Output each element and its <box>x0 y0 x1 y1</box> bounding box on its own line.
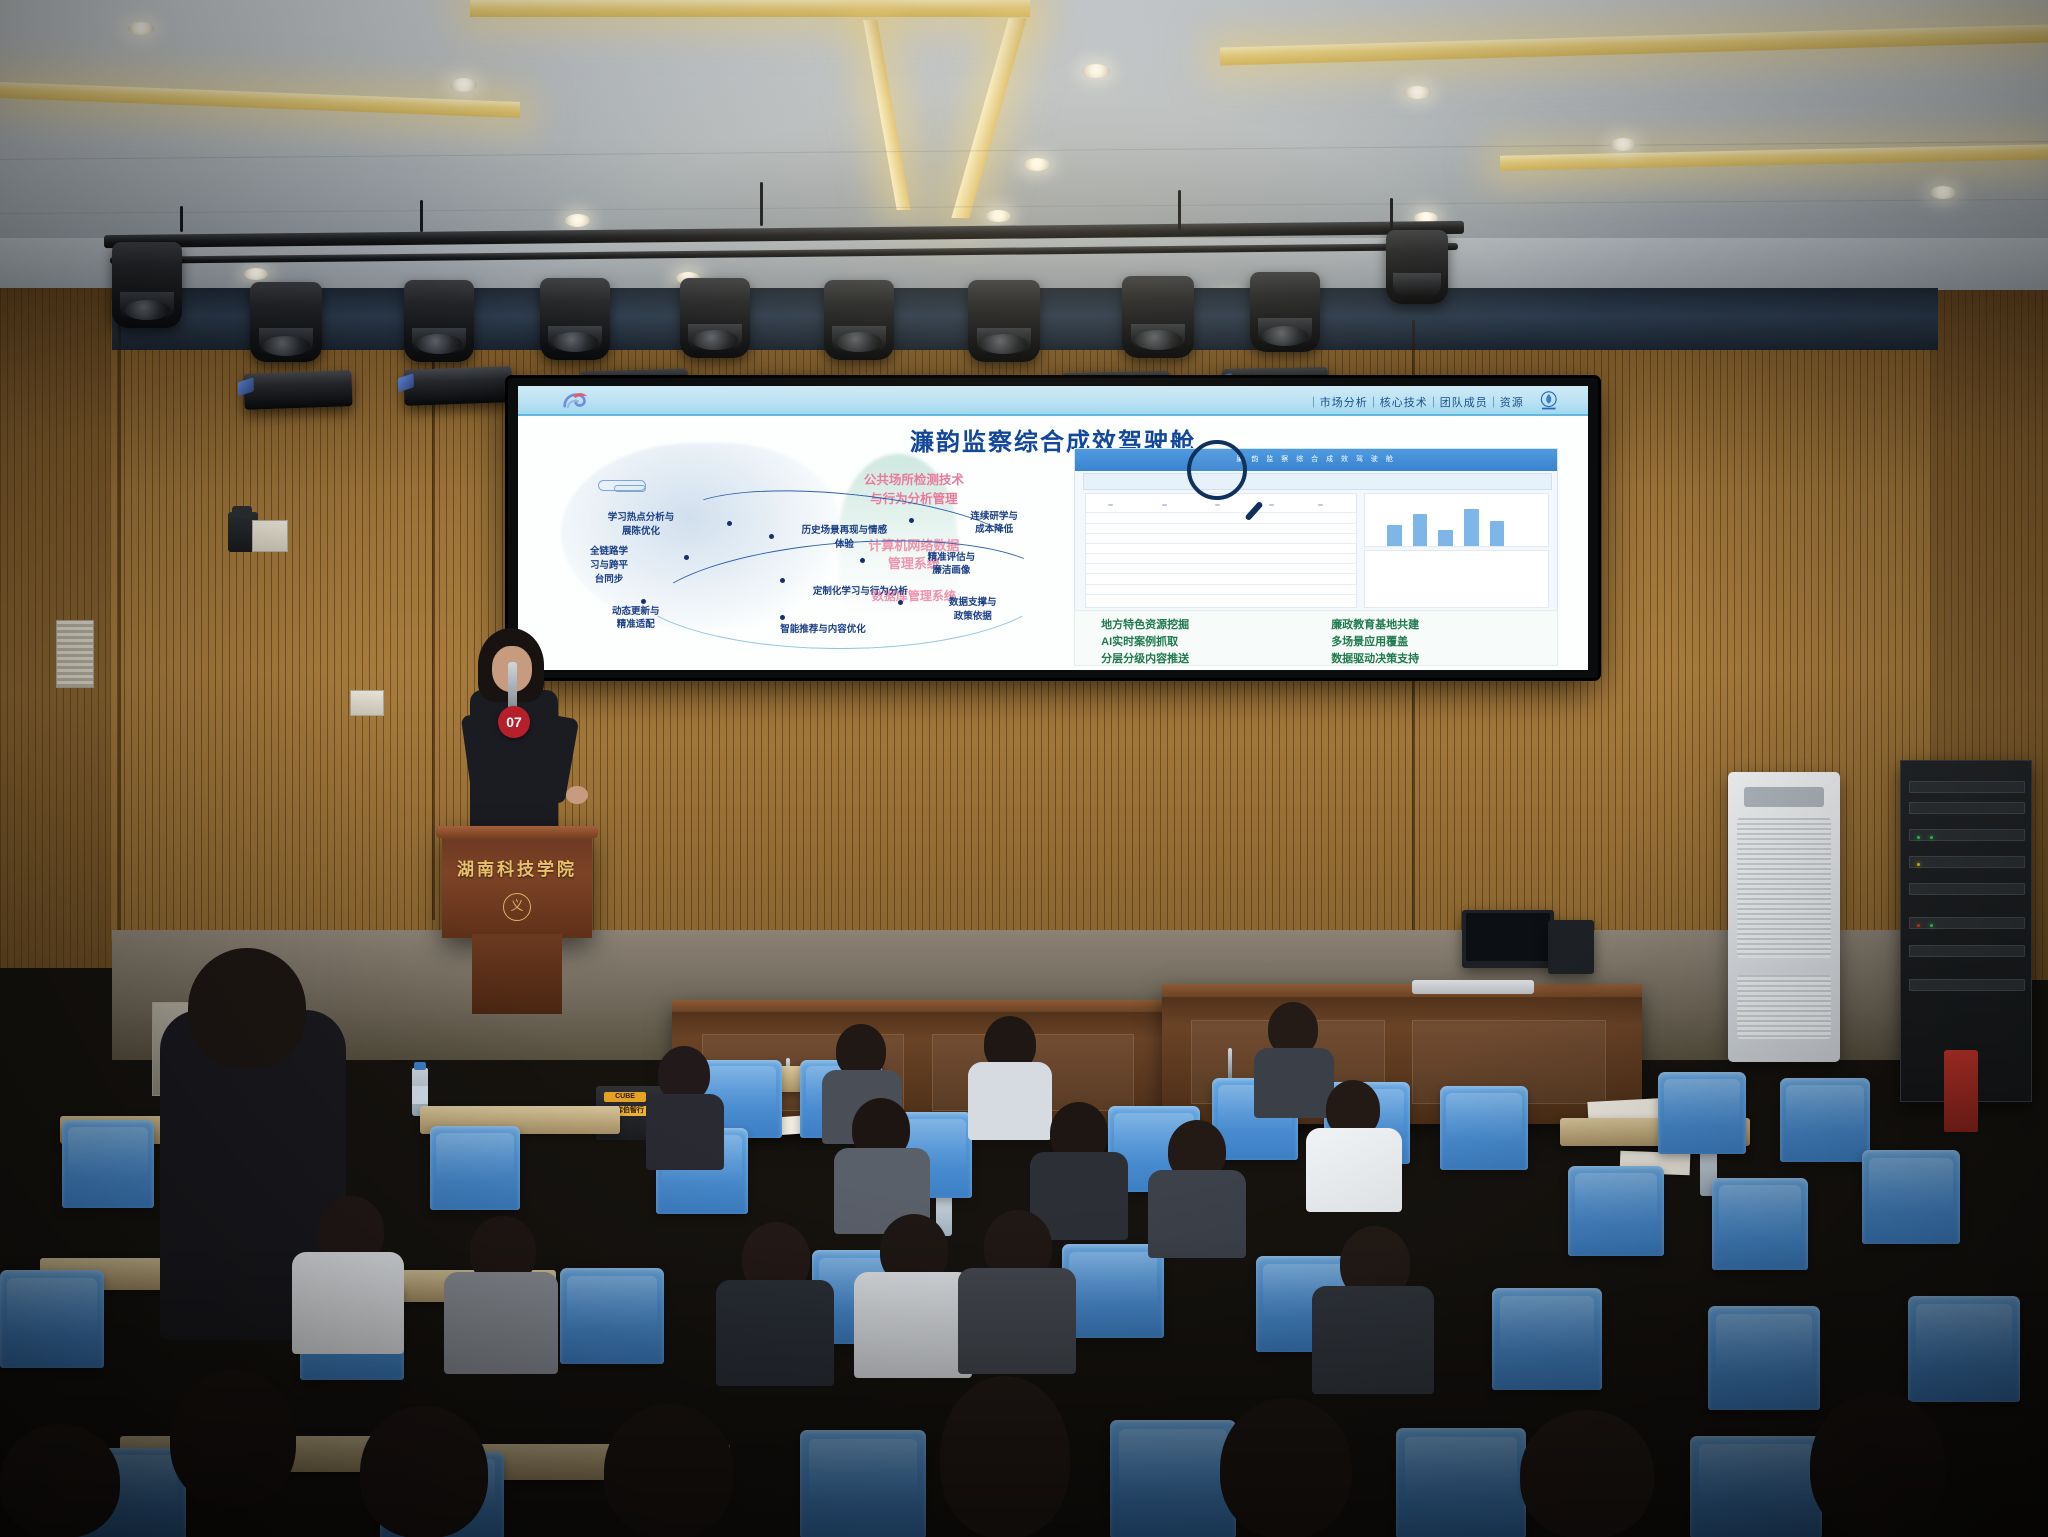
podium-top-surface <box>436 826 598 838</box>
ceiling-downlight <box>244 268 268 280</box>
audience-person-head <box>188 948 306 1068</box>
stage-wash-light <box>243 370 352 410</box>
rack-unit <box>1909 829 2025 841</box>
magnifier-icon <box>1187 440 1247 500</box>
ceiling-downlight <box>450 78 477 92</box>
highlight-right-0: 廉政教育基地共建 <box>1331 616 1419 632</box>
ac-grille <box>1737 818 1831 957</box>
slide-header-rule <box>518 414 1588 416</box>
mindmap-label-7: 智能推荐与内容优化 <box>705 623 940 637</box>
audience-person-body <box>854 1272 972 1378</box>
barn-door <box>238 378 254 398</box>
chart-bar <box>1387 525 1402 546</box>
bottle-cap <box>414 1062 426 1070</box>
audience-person-body <box>1254 1048 1334 1118</box>
stage-light-lens <box>836 332 882 352</box>
audience-person-body <box>292 1252 404 1354</box>
table-cell <box>1108 504 1113 506</box>
audience-seat[interactable] <box>0 1270 104 1368</box>
highlight-left-0: 地方特色资源挖掘 <box>1101 616 1189 632</box>
rack-unit <box>1909 945 2025 957</box>
mindmap-label-6: 动态更新与 精准适配 <box>561 605 711 633</box>
ceiling-downlight <box>1930 186 1956 199</box>
wall-seam <box>118 300 121 940</box>
fire-extinguisher <box>1944 1050 1978 1132</box>
mindmap-node-dot <box>909 518 914 523</box>
highlight-left-1: AI实时案例抓取 <box>1101 633 1178 649</box>
mindmap-node-dot <box>780 578 785 583</box>
ceiling-downlight <box>128 22 154 35</box>
audience-seat[interactable] <box>1658 1072 1746 1154</box>
audience-seat[interactable] <box>1396 1428 1526 1537</box>
slide-nav-text: ｜市场分析｜核心技术｜团队成员｜资源 <box>1308 394 1524 410</box>
chart-bar <box>1490 521 1505 546</box>
highlight-left-2: 分层分级内容推送 <box>1101 650 1189 666</box>
highlight-right-1: 多场景应用覆盖 <box>1331 633 1408 649</box>
table-row <box>1086 573 1356 574</box>
stage-light-lens <box>1134 330 1182 350</box>
barn-door <box>398 374 414 394</box>
stage-light-lens <box>552 332 598 352</box>
audience-seat[interactable] <box>1712 1178 1808 1270</box>
institution-logo <box>1522 389 1576 412</box>
audience-person-body <box>1312 1286 1434 1394</box>
control-monitor[interactable] <box>1462 910 1554 968</box>
audience-person-head <box>170 1370 296 1506</box>
table-row <box>1086 584 1356 585</box>
podium-institution-name: 湖南科技学院 <box>442 855 592 880</box>
chart-bar <box>1413 514 1428 546</box>
audience-person-head <box>604 1404 734 1537</box>
table-row <box>1086 512 1356 513</box>
mindmap-node-dot <box>684 555 689 560</box>
rack-status-led <box>1930 836 1933 839</box>
stage-light-lens <box>692 330 738 350</box>
audience-person-head <box>1810 1392 1946 1537</box>
rack-unit <box>1909 979 2025 991</box>
table-row <box>1086 533 1356 534</box>
dashboard-filter-bar[interactable] <box>1083 473 1552 490</box>
wall-ac-vent <box>56 620 94 688</box>
audience-person-head <box>1220 1398 1352 1537</box>
audience-person-body <box>1148 1170 1246 1258</box>
truss-cable <box>760 182 763 226</box>
ceiling-downlight <box>1404 86 1431 99</box>
audience-seat[interactable] <box>1690 1436 1822 1537</box>
rack-unit <box>1909 883 2025 895</box>
wall-panel-box <box>252 520 288 552</box>
stage-par-light <box>1386 230 1448 304</box>
chart-bar <box>1464 509 1479 546</box>
dashboard-stat-card <box>1364 550 1549 609</box>
audience-seat[interactable] <box>800 1430 926 1537</box>
control-pc-tower <box>1548 920 1594 974</box>
audience-person-body <box>646 1094 724 1170</box>
dashboard-chart-card <box>1364 493 1549 547</box>
podium-base <box>472 934 562 1014</box>
ac-control-panel[interactable] <box>1744 787 1825 807</box>
wall-plaque <box>350 690 384 716</box>
audience-seat[interactable] <box>1492 1288 1602 1390</box>
audience-seat[interactable] <box>1908 1296 2020 1402</box>
audience-seat[interactable] <box>1062 1244 1164 1338</box>
audience-seat[interactable] <box>1568 1166 1664 1256</box>
ac-grille <box>1737 975 1831 1039</box>
audience-seat[interactable] <box>62 1120 154 1208</box>
table-row <box>1086 594 1356 595</box>
presentation-screen[interactable]: ｜市场分析｜核心技术｜团队成员｜资源 濂韵监察综合成效驾驶舱 公共场所检测技术 … <box>518 386 1588 670</box>
audience-person-body <box>444 1272 558 1374</box>
podium: 湖南科技学院 义 <box>442 826 592 938</box>
table-row <box>1086 543 1356 544</box>
rack-unit <box>1909 856 2025 868</box>
highlight-right-2: 数据驱动决策支持 <box>1331 650 1419 666</box>
dashboard-header-title: 廉 韵 监 察 综 合 成 效 驾 驶 舱 <box>1236 454 1395 464</box>
audience-seat[interactable] <box>1708 1306 1820 1410</box>
stage-wash-light <box>403 366 512 406</box>
audience-person-body <box>958 1268 1076 1374</box>
table-top-surface <box>672 1000 1172 1012</box>
dashboard-mockup[interactable]: 廉 韵 监 察 综 合 成 效 驾 驶 舱 <box>1074 448 1558 612</box>
microphone-number-badge: 07 <box>498 706 530 738</box>
dashboard-table-card <box>1085 493 1357 608</box>
table-row <box>1086 563 1356 564</box>
podium-emblem-icon: 义 <box>503 893 531 921</box>
audience-person-head <box>0 1424 120 1537</box>
monitor-screen <box>1466 913 1551 961</box>
audience-seat[interactable] <box>430 1126 520 1210</box>
bag-brand-label: CUBE <box>604 1092 646 1102</box>
mindmap-label-0: 学习热点分析与 展陈优化 <box>550 511 732 539</box>
table-row <box>1086 553 1356 554</box>
table-cell <box>1269 504 1274 506</box>
bag-brand-text: CUBE <box>615 1093 635 1100</box>
bottle-label <box>412 1086 428 1104</box>
table-cell <box>1318 504 1323 506</box>
ceiling-downlight <box>986 210 1011 222</box>
mindmap-label-8: 数据支撑与 政策依据 <box>893 596 1054 624</box>
stage-light-lens <box>1262 326 1308 346</box>
table-cell <box>1162 504 1167 506</box>
audience-seat[interactable] <box>1440 1086 1528 1170</box>
pink-heading-line1: 公共场所检测技术 <box>775 471 1053 490</box>
stage-light-lens <box>416 334 462 354</box>
rack-status-led <box>1917 924 1920 927</box>
slide-header-bar: ｜市场分析｜核心技术｜团队成员｜资源 <box>518 386 1588 416</box>
mindmap-node-dot <box>780 615 785 620</box>
truss-cable <box>420 200 423 232</box>
truss-cable <box>180 206 183 232</box>
audience-person-head <box>940 1376 1070 1537</box>
audience-seat[interactable] <box>1780 1078 1870 1162</box>
brand-swirl-logo <box>539 390 614 411</box>
rack-unit <box>1909 781 2025 793</box>
audience-seat[interactable] <box>560 1268 664 1364</box>
table-microphone <box>1228 1048 1232 1080</box>
table-top-surface <box>1162 984 1642 997</box>
badge-number: 07 <box>506 714 522 730</box>
ceiling-camera-left <box>232 506 252 518</box>
audience-seat[interactable] <box>1110 1420 1236 1537</box>
audience-person-head <box>1520 1410 1654 1537</box>
wall-seam <box>432 330 435 920</box>
truss-cable <box>1178 190 1181 230</box>
mindmap-label-1: 历史场景再现与情感 体验 <box>743 524 946 552</box>
ceiling-downlight <box>1024 158 1050 171</box>
audience-seat[interactable] <box>1862 1150 1960 1244</box>
chart-bar <box>1438 530 1453 546</box>
bag-sub-text: 库伯智行 <box>616 1107 644 1114</box>
ceiling-downlight <box>1082 64 1110 78</box>
rack-unit <box>1909 802 2025 814</box>
cove-light-top <box>470 0 1030 17</box>
audience-person-body <box>716 1280 834 1386</box>
rack-status-led <box>1917 863 1920 866</box>
rack-status-led <box>1930 924 1933 927</box>
stage-light-lens <box>262 336 310 356</box>
air-conditioner <box>1728 772 1840 1062</box>
stage-light-lens <box>124 300 170 320</box>
dashboard-header-bar: 廉 韵 监 察 综 合 成 效 驾 驶 舱 <box>1075 449 1557 470</box>
control-keyboard[interactable] <box>1412 980 1534 994</box>
lecture-hall-photo: ｜市场分析｜核心技术｜团队成员｜资源 濂韵监察综合成效驾驶舱 公共场所检测技术 … <box>0 0 2048 1537</box>
rack-unit <box>1909 917 2025 929</box>
audience-person-body <box>968 1062 1052 1140</box>
table-cell <box>1215 504 1220 506</box>
truss-cable <box>1390 198 1393 232</box>
rack-status-led <box>1917 836 1920 839</box>
ceiling-downlight <box>565 214 590 227</box>
paperclip-decoration-inner <box>614 485 646 492</box>
audience-person-body <box>1306 1128 1402 1212</box>
mindmap-label-4: 精准评估与 廉洁画像 <box>876 551 1026 579</box>
presenter-hand <box>566 786 588 804</box>
mindmap-label-2: 连续研学与 成本降低 <box>919 510 1069 538</box>
table-row <box>1086 523 1356 524</box>
stage-light-lens <box>980 334 1028 354</box>
ceiling-downlight <box>1610 138 1636 151</box>
audience-person-head <box>360 1406 488 1537</box>
mindmap-label-3: 全链路学 习与跨平 台同步 <box>545 545 673 586</box>
